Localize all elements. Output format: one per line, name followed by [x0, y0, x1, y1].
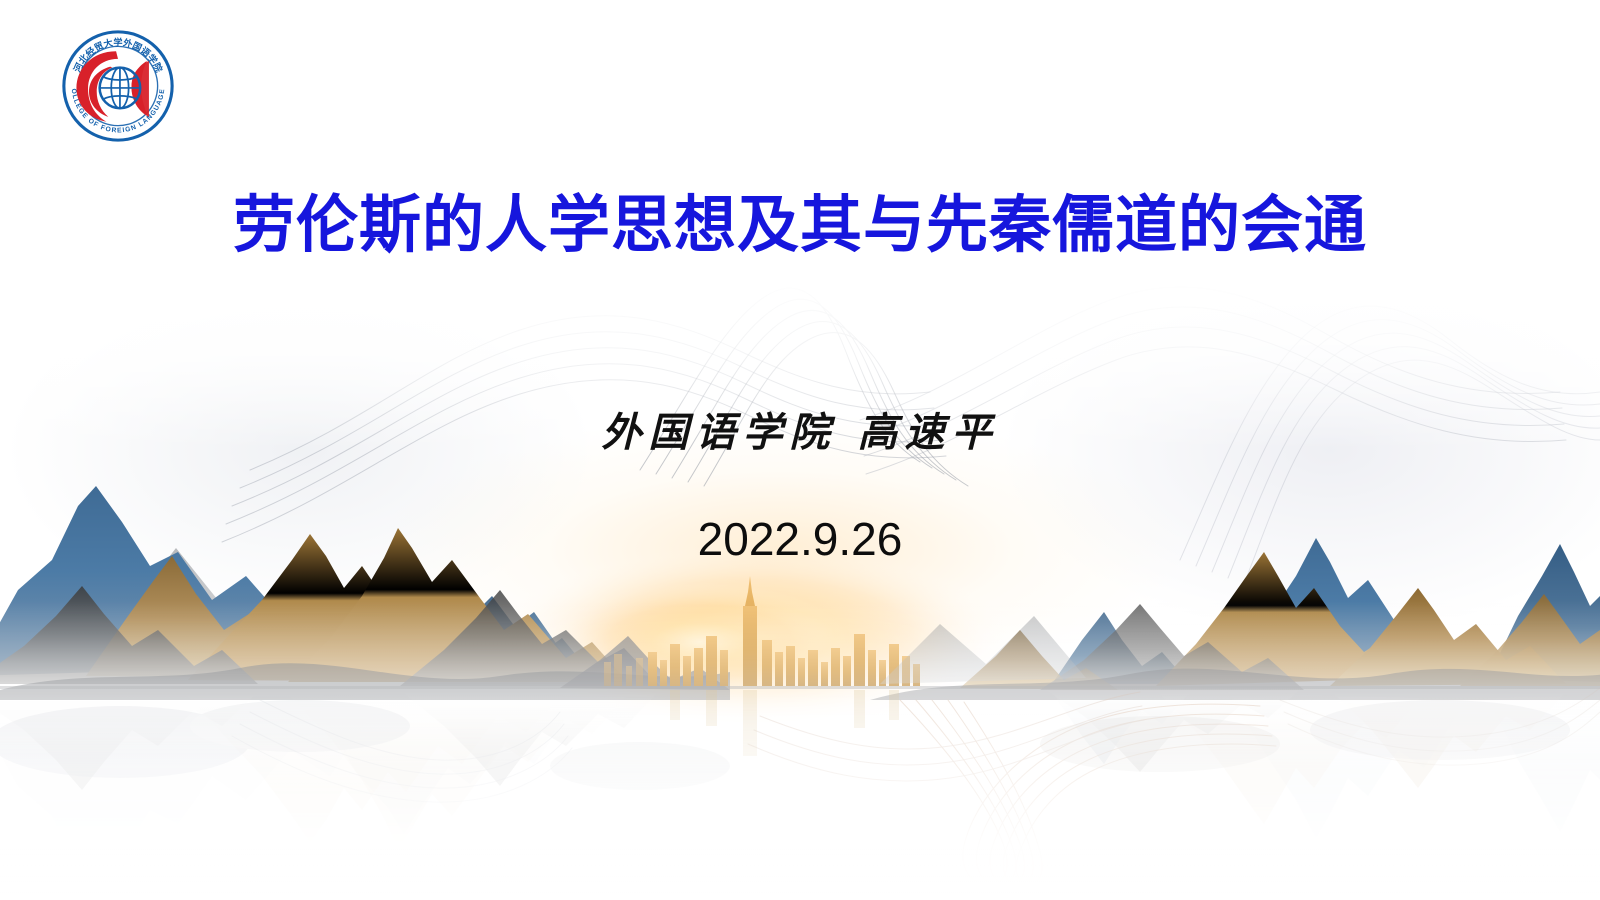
- bottom-artwork-fade: [0, 600, 1600, 900]
- college-of-foreign-languages-logo: 河北经贸大学外国语学院 COLLEGE OF FOREIGN LANGUAGES: [60, 28, 176, 144]
- presentation-date: 2022.9.26: [0, 512, 1600, 566]
- author-affiliation-line: 外国语学院 高速平: [0, 400, 1600, 458]
- title-slide: 河北经贸大学外国语学院 COLLEGE OF FOREIGN LANGUAGES…: [0, 0, 1600, 900]
- page-title: 劳伦斯的人学思想及其与先秦儒道的会通: [0, 192, 1600, 257]
